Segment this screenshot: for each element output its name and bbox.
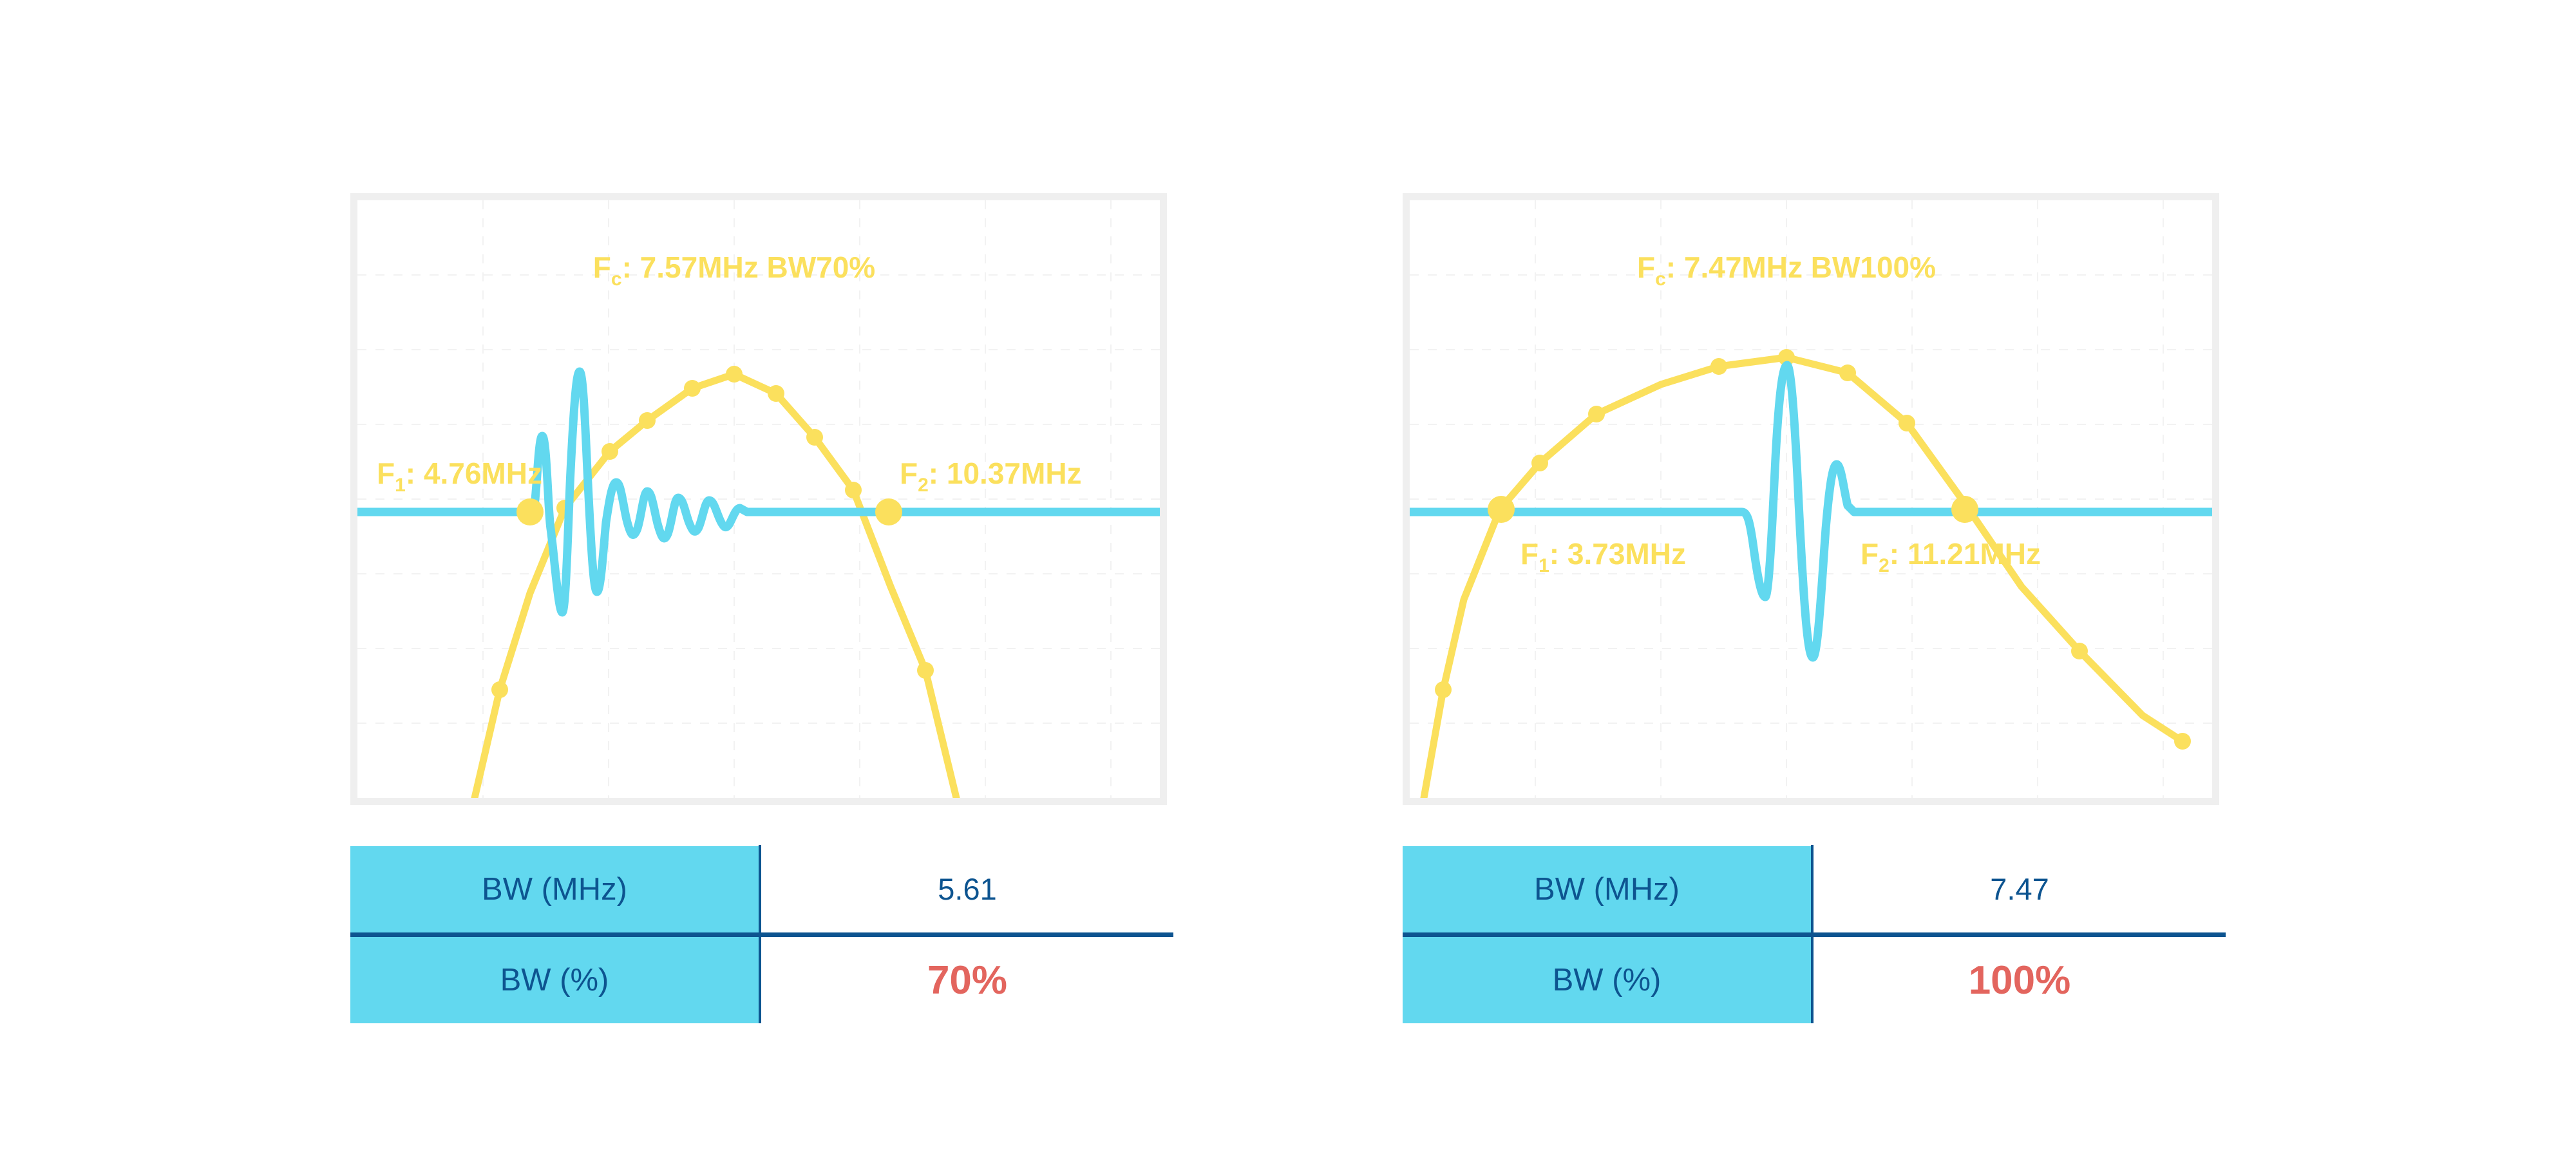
bw-mhz-label: BW (MHz) (350, 846, 760, 935)
pulse-waveform-right (1410, 365, 2212, 657)
grid-right (1410, 200, 2212, 798)
bw-mhz-label: BW (MHz) (1403, 846, 1812, 935)
bw-pct-value: 100% (1812, 935, 2226, 1024)
bw-pct-label: BW (%) (1403, 935, 1812, 1024)
plot-frame-right: Fc: 7.47MHz BW100% F1: 3.73MHz F2: 11.21… (1403, 193, 2219, 805)
annotation-f1-left: F1: 4.76MHz (377, 457, 542, 496)
bw-mhz-value: 7.47 (1812, 846, 2226, 935)
panel-left: Fc: 7.57MHz BW70% F1: 4.76MHz F2: 10.37M… (350, 193, 1167, 805)
bw-table-right: BW (MHz) 7.47 BW (%) 100% (1403, 845, 2226, 1023)
plot-frame-left: Fc: 7.57MHz BW70% F1: 4.76MHz F2: 10.37M… (350, 193, 1167, 805)
chart-right: Fc: 7.47MHz BW100% F1: 3.73MHz F2: 11.21… (1410, 200, 2212, 798)
bw-pct-value: 70% (760, 935, 1173, 1024)
table-row: BW (%) 70% (350, 935, 1173, 1024)
table-row: BW (%) 100% (1403, 935, 2226, 1024)
spectrum-markers-right (1435, 349, 2191, 750)
figure-root: Fc: 7.57MHz BW70% F1: 4.76MHz F2: 10.37M… (0, 0, 2576, 1154)
bw-table-left: BW (MHz) 5.61 BW (%) 70% (350, 845, 1173, 1023)
chart-left: Fc: 7.57MHz BW70% F1: 4.76MHz F2: 10.37M… (357, 200, 1160, 798)
table-row: BW (MHz) 5.61 (350, 846, 1173, 935)
grid-left (357, 200, 1160, 798)
annotation-fc-right: Fc: 7.47MHz BW100% (1637, 251, 1936, 290)
bw-mhz-value: 5.61 (760, 846, 1173, 935)
table-row: BW (MHz) 7.47 (1403, 846, 2226, 935)
bw-pct-label: BW (%) (350, 935, 760, 1024)
annotation-f2-left: F2: 10.37MHz (900, 457, 1082, 496)
annotation-fc-left: Fc: 7.57MHz BW70% (593, 251, 875, 290)
annotation-f2-right: F2: 11.21MHz (1861, 537, 2041, 576)
annotation-f1-right: F1: 3.73MHz (1520, 537, 1686, 576)
pulse-waveform-left (357, 372, 1160, 612)
panel-right: Fc: 7.47MHz BW100% F1: 3.73MHz F2: 11.21… (1403, 193, 2219, 805)
